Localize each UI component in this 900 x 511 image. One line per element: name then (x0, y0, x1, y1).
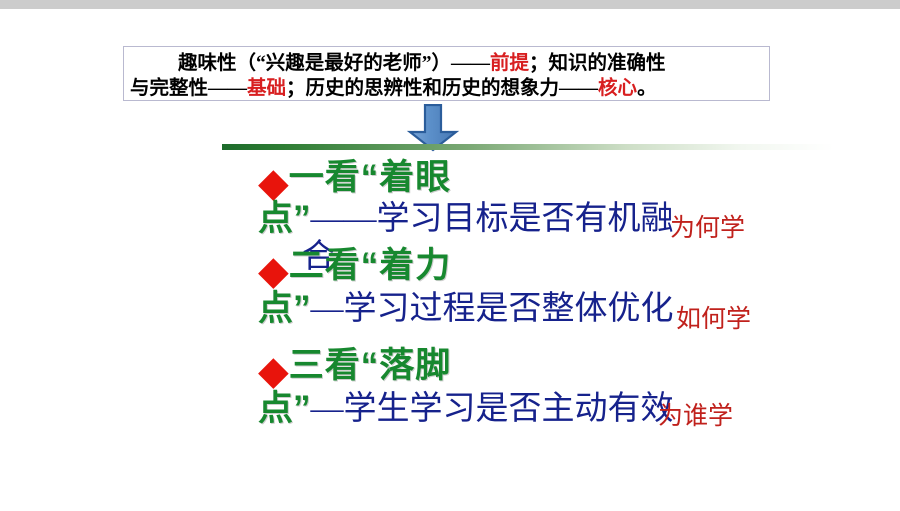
point-group-2: ◆二看“着力 点”—学习过程是否整体优化 如何学 (258, 246, 878, 346)
header-line-2-highlight-1: 基础 (247, 78, 286, 99)
point-2-note: 如何学 (676, 299, 751, 335)
header-line-2-highlight-2: 核心 (598, 78, 637, 99)
header-line-2: 与完整性——基础；历史的思辨性和历史的想象力——核心。 (130, 76, 763, 101)
slide-canvas: 趣味性（“兴趣是最好的老师”）——前提；知识的准确性 与完整性——基础；历史的思… (0, 0, 900, 511)
header-line-1-part1: 趣味性（“兴趣是最好的老师”）—— (178, 53, 490, 74)
points-block: ◆一看“着眼 点”——学习目标是否有机融 合 为何学 ◆二看“着力 点”—学习过… (258, 158, 878, 458)
point-2-heading-row: ◆二看“着力 (258, 246, 451, 291)
top-grey-bar (0, 0, 900, 9)
diamond-bullet-icon: ◆ (258, 163, 289, 203)
point-3-note: 为谁学 (658, 396, 733, 432)
point-3-tail-green: 点” (258, 389, 311, 428)
header-line-2-part3: 。 (637, 78, 657, 99)
point-2-heading: 二看“着力 (289, 246, 452, 285)
point-1-tail-blue: ——学习目标是否有机融 (311, 201, 674, 237)
point-group-3: ◆三看“落脚 点”—学生学习是否主动有效 为谁学 (258, 346, 878, 441)
point-2-detail-row: 点”—学习过程是否整体优化 (258, 290, 674, 328)
point-1-detail-row: 点”——学习目标是否有机融 (258, 200, 674, 238)
header-line-1-part2: ；知识的准确性 (529, 53, 666, 74)
point-1-tail-green: 点” (258, 199, 311, 238)
green-gradient-divider (222, 144, 834, 150)
point-1-note: 为何学 (670, 208, 745, 244)
header-line-1-highlight: 前提 (490, 53, 529, 74)
point-2-tail-green: 点” (258, 289, 311, 328)
point-1-heading-row: ◆一看“着眼 (258, 158, 451, 203)
diamond-bullet-icon: ◆ (258, 351, 289, 391)
point-3-detail-row: 点”—学生学习是否主动有效 (258, 390, 674, 428)
header-line-2-part1: 与完整性—— (130, 78, 247, 99)
point-2-tail-blue: —学习过程是否整体优化 (311, 291, 674, 327)
header-statement-box: 趣味性（“兴趣是最好的老师”）——前提；知识的准确性 与完整性——基础；历史的思… (123, 46, 770, 101)
point-3-heading: 三看“落脚 (289, 346, 452, 385)
point-3-heading-row: ◆三看“落脚 (258, 346, 451, 391)
diamond-bullet-icon: ◆ (258, 251, 289, 291)
header-line-1: 趣味性（“兴趣是最好的老师”）——前提；知识的准确性 (130, 51, 763, 76)
point-3-tail-blue: —学生学习是否主动有效 (311, 391, 674, 427)
header-line-2-part2: ；历史的思辨性和历史的想象力—— (286, 78, 598, 99)
point-1-heading: 一看“着眼 (289, 158, 452, 197)
point-group-1: ◆一看“着眼 点”——学习目标是否有机融 合 为何学 (258, 158, 878, 246)
